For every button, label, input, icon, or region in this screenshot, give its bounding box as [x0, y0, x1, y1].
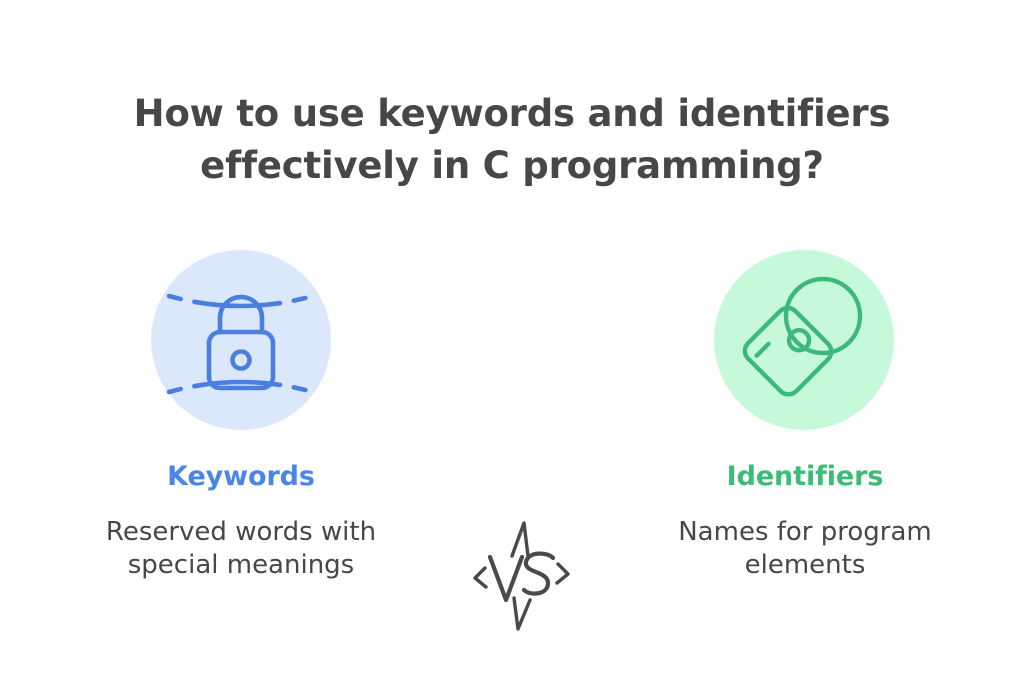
title-line-2: effectively in C programming? [62, 140, 962, 192]
keywords-description: Reserved words with special meanings [31, 516, 451, 582]
versus-badge [462, 512, 580, 638]
comparison-row [0, 240, 1024, 450]
page-title: How to use keywords and identifiers effe… [62, 88, 962, 192]
identifiers-title: Identifiers [595, 460, 1015, 494]
keywords-desc-line-2: special meanings [31, 549, 451, 582]
identifiers-description: Names for program elements [595, 516, 1015, 582]
lock-icon [151, 250, 331, 430]
keywords-title: Keywords [31, 460, 451, 494]
keywords-desc-line-1: Reserved words with [31, 516, 451, 549]
tag-icon [714, 250, 894, 430]
infographic-canvas: How to use keywords and identifiers effe… [0, 0, 1024, 690]
identifiers-desc-line-1: Names for program [595, 516, 1015, 549]
identifiers-column: Identifiers Names for program elements [595, 460, 1015, 582]
identifiers-desc-line-2: elements [595, 549, 1015, 582]
keywords-icon-badge [151, 250, 331, 430]
keywords-column: Keywords Reserved words with special mea… [31, 460, 451, 582]
vs-icon [462, 512, 580, 638]
identifiers-icon-badge [714, 250, 894, 430]
title-line-1: How to use keywords and identifiers [62, 88, 962, 140]
